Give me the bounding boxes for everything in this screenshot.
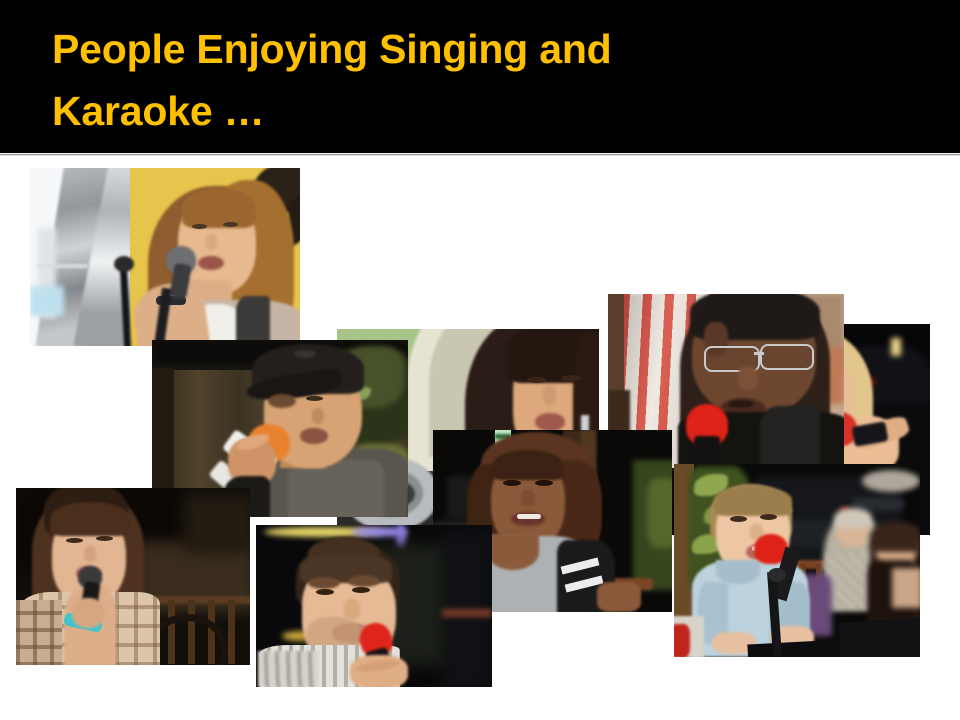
slide: People Enjoying Singing and Karaoke … <box>0 0 960 720</box>
photo-collage <box>0 157 960 720</box>
page-title: People Enjoying Singing and Karaoke … <box>52 18 882 143</box>
photo-young-man-red-mic <box>256 525 492 687</box>
photo-woman-plaid-shirt <box>16 488 250 665</box>
photo-boy-red-mic-stand <box>674 464 920 657</box>
photo-woman-curly-hair-indoor <box>30 168 300 346</box>
